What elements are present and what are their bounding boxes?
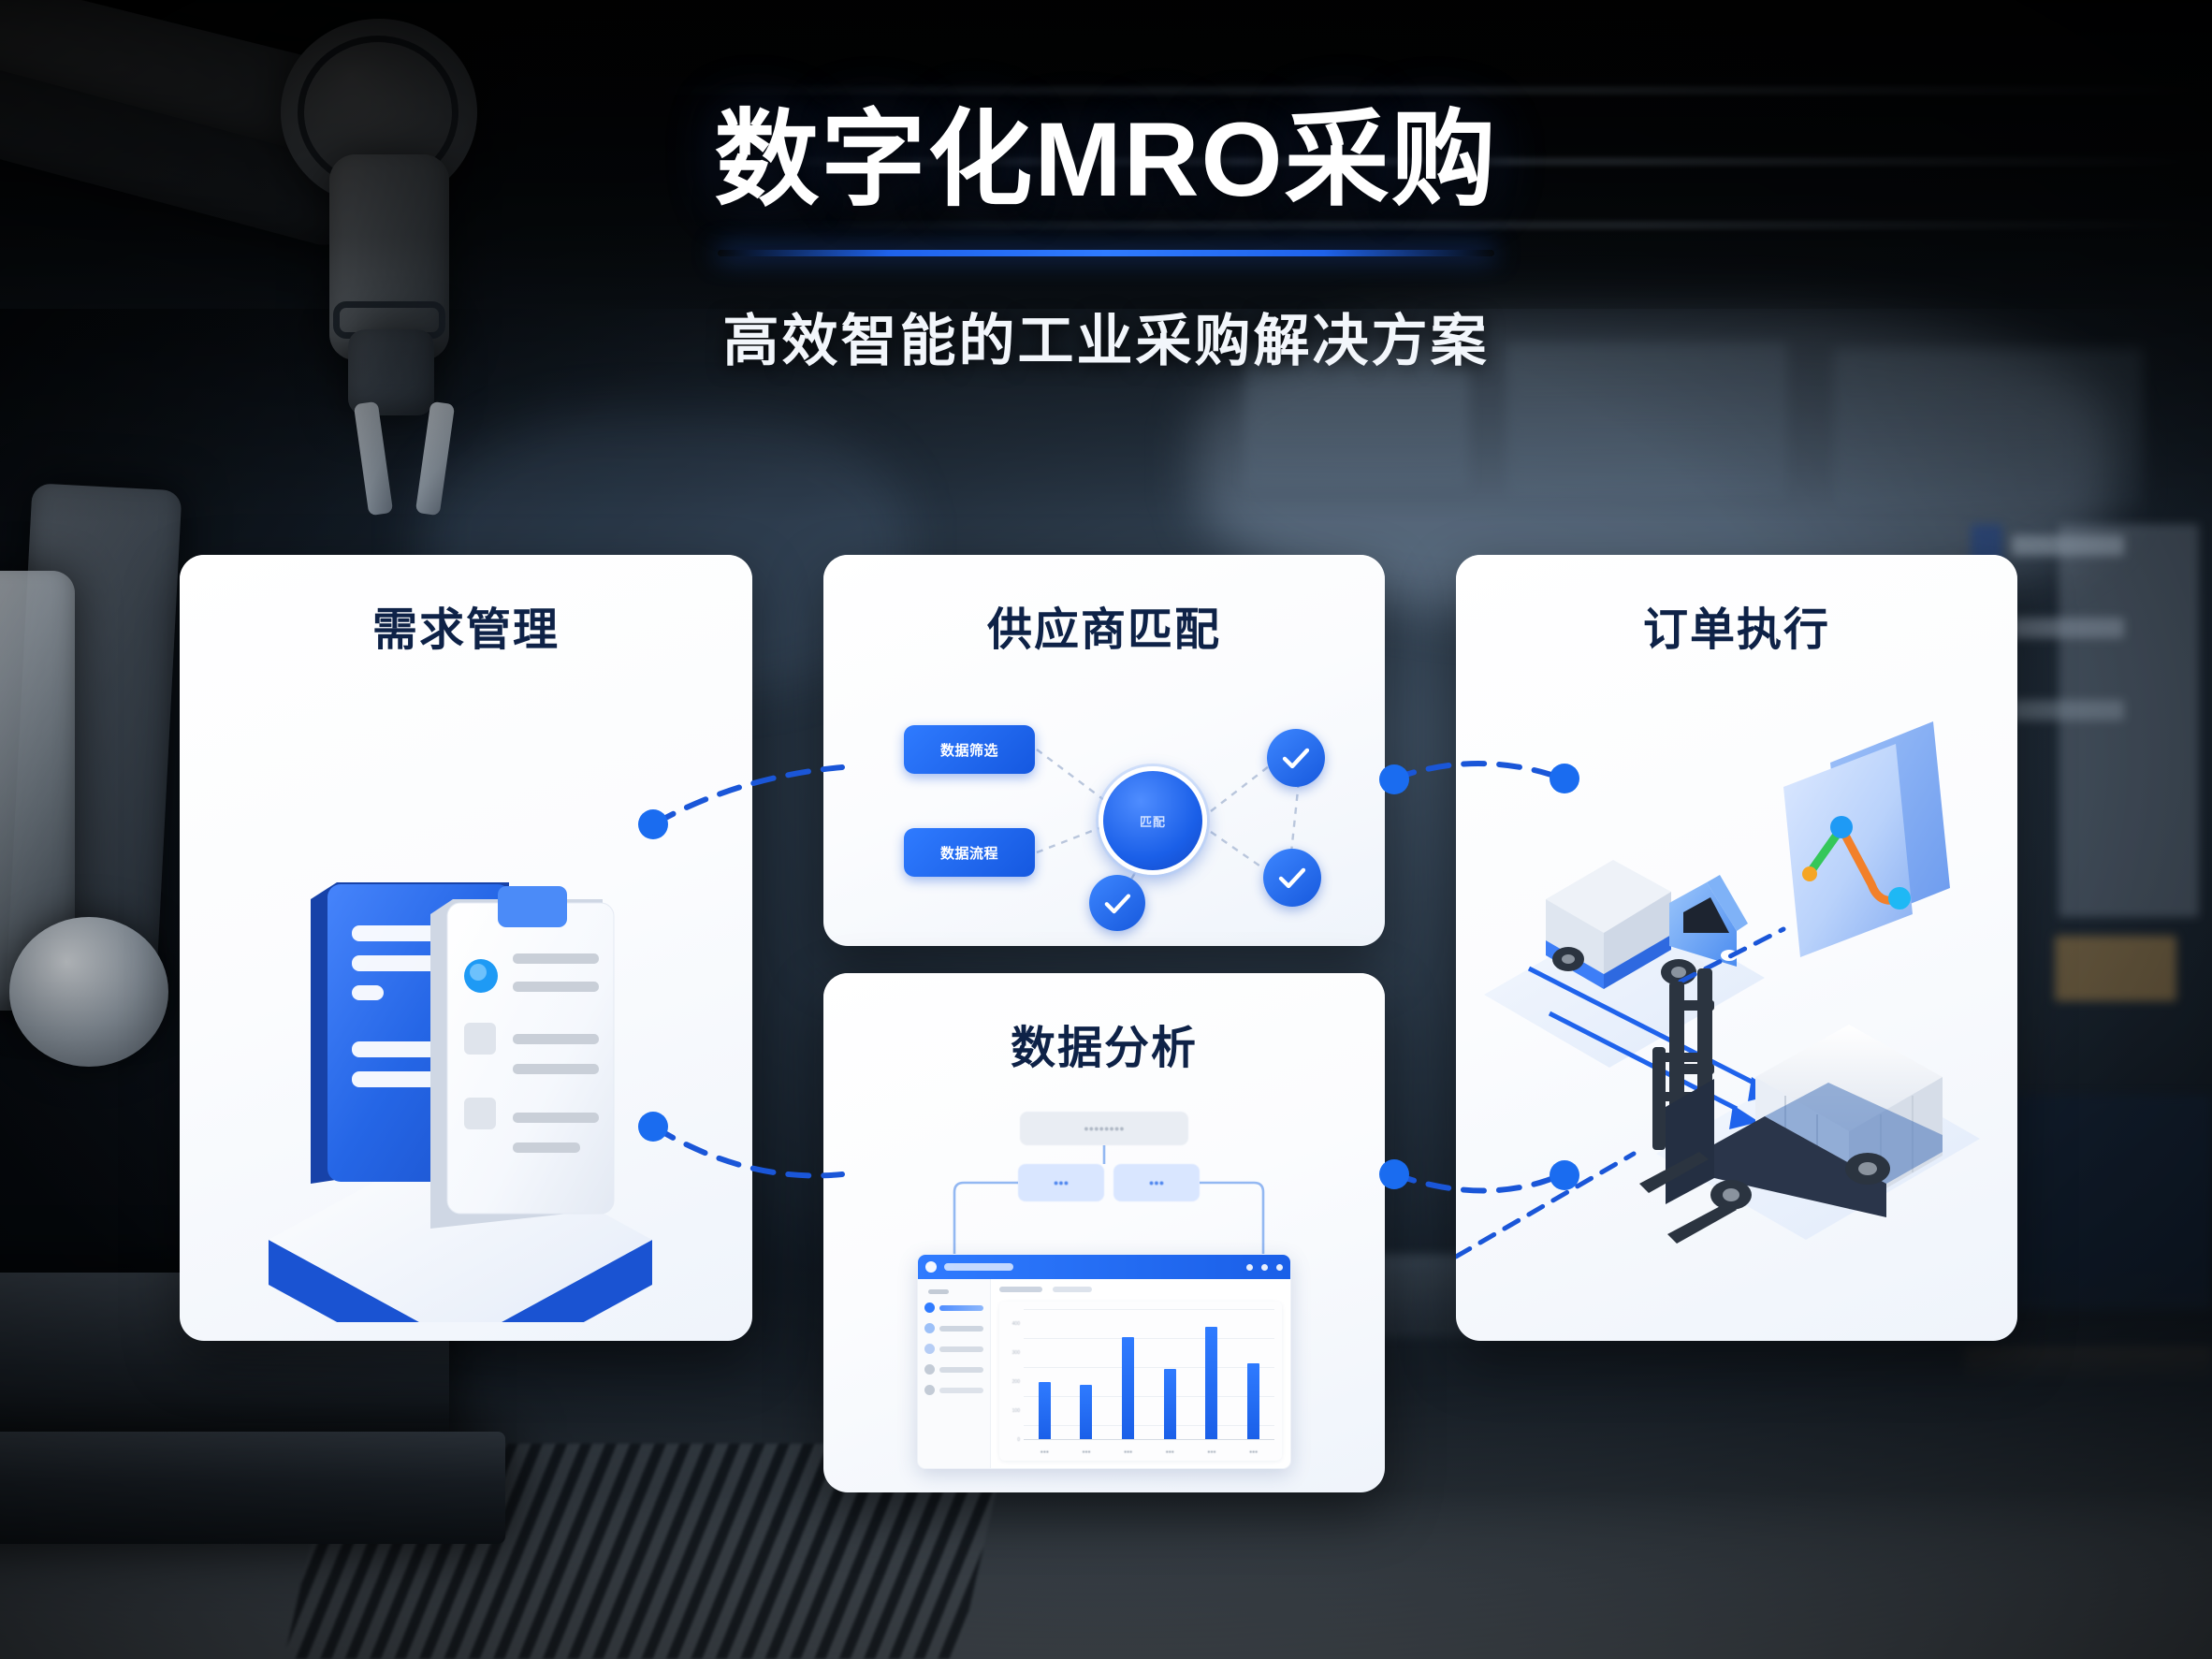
- card-supplier-matching[interactable]: 供应商匹配 数据筛选 数据流程 匹配: [823, 555, 1385, 946]
- sidebar-item-3[interactable]: [924, 1344, 983, 1354]
- page-title: 数字化MRO采购: [0, 101, 2212, 218]
- header: 数字化MRO采购 高效智能的工业采购解决方案: [0, 0, 2212, 377]
- card-data-analysis[interactable]: 数据分析 ●●●●●●●● ●●● ●●●: [823, 973, 1385, 1492]
- x-label-5: ●●●: [1207, 1449, 1215, 1455]
- pill-data-flow[interactable]: 数据流程: [904, 828, 1035, 877]
- x-label-2: ●●●: [1082, 1449, 1090, 1455]
- card-demand-management[interactable]: 需求管理: [180, 555, 752, 1341]
- sidebar-icon-2: [924, 1323, 935, 1333]
- chart-panel: 400 300 200 100 0: [999, 1302, 1282, 1461]
- tab-1[interactable]: [999, 1287, 1042, 1292]
- check-icon: [1275, 861, 1309, 895]
- sidebar-label-4: [939, 1367, 983, 1373]
- order-execution-illustration: [1456, 705, 2017, 1341]
- pill-data-filter-label: 数据筛选: [940, 740, 998, 760]
- sidebar-item-2[interactable]: [924, 1323, 983, 1333]
- check-node-2[interactable]: [1263, 849, 1321, 907]
- dashboard-main-panel: 400 300 200 100 0: [991, 1279, 1290, 1468]
- matching-hub-label: 匹配: [1140, 812, 1166, 830]
- y-tick-300: 300: [1012, 1350, 1020, 1356]
- sidebar-item-4[interactable]: [924, 1364, 983, 1375]
- y-tick-200: 200: [1012, 1379, 1020, 1385]
- y-tick-100: 100: [1012, 1408, 1020, 1414]
- bar-3: [1122, 1337, 1134, 1440]
- x-axis-labels: ●●● ●●● ●●● ●●● ●●● ●●●: [1024, 1449, 1274, 1455]
- sidebar-label-1: [939, 1305, 983, 1311]
- card-title-demand: 需求管理: [180, 592, 752, 658]
- x-label-4: ●●●: [1166, 1449, 1174, 1455]
- y-tick-0: 0: [1017, 1437, 1020, 1443]
- dashboard-tabs[interactable]: [999, 1287, 1282, 1292]
- y-tick-400: 400: [1012, 1321, 1020, 1327]
- infographic-canvas: 数字化MRO采购 高效智能的工业采购解决方案 需求管理: [0, 0, 2212, 1659]
- pill-data-filter[interactable]: 数据筛选: [904, 725, 1035, 774]
- bar-6: [1247, 1363, 1259, 1440]
- check-icon: [1279, 741, 1313, 775]
- card-order-execution[interactable]: 订单执行: [1456, 555, 2017, 1341]
- sidebar-item-5[interactable]: [924, 1385, 983, 1395]
- check-node-3[interactable]: [1089, 875, 1145, 931]
- app-logo-icon: [925, 1261, 937, 1273]
- pill-data-flow-label: 数据流程: [940, 843, 998, 863]
- sidebar-label-2: [939, 1326, 983, 1332]
- sidebar-icon-5: [924, 1385, 935, 1395]
- sidebar-icon-1: [924, 1302, 935, 1313]
- sidebar-label-5: [939, 1388, 983, 1393]
- analytics-dashboard-mock[interactable]: 400 300 200 100 0: [917, 1254, 1291, 1469]
- tab-2[interactable]: [1053, 1287, 1092, 1292]
- card-title-order: 订单执行: [1456, 592, 2017, 658]
- minimize-icon[interactable]: [1246, 1264, 1253, 1271]
- maximize-icon[interactable]: [1261, 1264, 1268, 1271]
- x-label-1: ●●●: [1041, 1449, 1049, 1455]
- bar-chart: 400 300 200 100 0: [1024, 1309, 1274, 1440]
- window-controls[interactable]: [1246, 1264, 1283, 1271]
- bar-2: [1080, 1385, 1092, 1440]
- sidebar-icon-4: [924, 1364, 935, 1375]
- x-label-3: ●●●: [1124, 1449, 1132, 1455]
- sidebar-item-1[interactable]: [924, 1302, 983, 1313]
- bar-series: [1024, 1309, 1274, 1440]
- dashboard-titlebar: [918, 1255, 1290, 1279]
- analysis-illustration: ●●●●●●●● ●●● ●●●: [823, 1095, 1385, 1492]
- card-title-analysis: 数据分析: [823, 1011, 1385, 1076]
- bar-5: [1205, 1327, 1217, 1440]
- close-icon[interactable]: [1276, 1264, 1283, 1271]
- title-accent-rule: [718, 250, 1494, 256]
- sidebar-heading: [928, 1289, 949, 1294]
- dashboard-sidebar[interactable]: [918, 1279, 991, 1468]
- supplier-network-diagram: 数据筛选 数据流程 匹配: [823, 695, 1385, 946]
- card-title-supplier: 供应商匹配: [823, 592, 1385, 658]
- bar-1: [1039, 1382, 1051, 1440]
- demand-illustration: [180, 742, 752, 1322]
- x-label-6: ●●●: [1249, 1449, 1258, 1455]
- matching-hub-node[interactable]: 匹配: [1099, 766, 1207, 875]
- dashboard-title-placeholder: [944, 1263, 1013, 1271]
- check-node-1[interactable]: [1267, 729, 1325, 787]
- bar-4: [1164, 1369, 1176, 1440]
- check-icon: [1101, 887, 1134, 920]
- sidebar-icon-3: [924, 1344, 935, 1354]
- sidebar-label-3: [939, 1346, 983, 1352]
- page-subtitle: 高效智能的工业采购解决方案: [0, 296, 2212, 377]
